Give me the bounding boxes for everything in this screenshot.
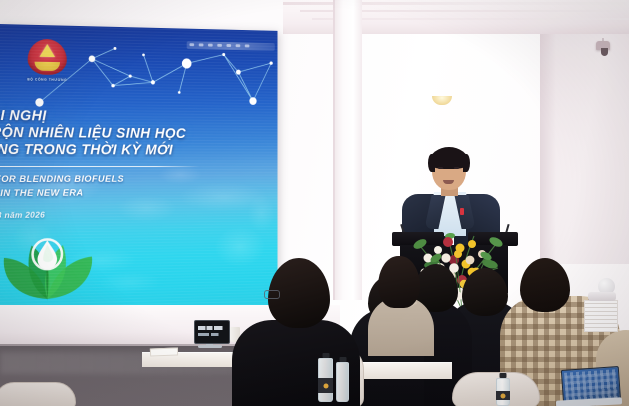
water-bottle-2 [336, 362, 349, 402]
projector-scanlines [0, 24, 277, 314]
presenter-monitor[interactable] [194, 320, 230, 344]
lamp-base [588, 292, 616, 301]
speaker-eye-right [454, 167, 459, 169]
security-camera-lens [601, 48, 608, 56]
speaker-hair-right [463, 154, 470, 172]
column-edge [333, 0, 335, 300]
monitor-content [198, 324, 226, 340]
attendee-glasses-icon [264, 290, 280, 299]
projection-screen: BỘ CÔNG THƯƠNG HỘI NGHỊ PHỐI TRỘN NHIÊN … [0, 24, 277, 314]
water-bottle-1 [318, 358, 333, 402]
water-bottle-3 [496, 378, 510, 406]
wall-recess-shadow [540, 34, 556, 264]
monitor-base [198, 345, 222, 348]
stacked-papers [584, 300, 618, 332]
paper-sheet [150, 348, 178, 357]
speaker-hair-left [428, 154, 435, 172]
wall-column [333, 0, 362, 300]
conference-photo: BỘ CÔNG THƯƠNG HỘI NGHỊ PHỐI TRỘN NHIÊN … [0, 0, 629, 406]
attendee-long-hair-head [378, 256, 420, 308]
speaker-eye-left [438, 167, 443, 169]
projection-screen-surface: BỘ CÔNG THƯƠNG HỘI NGHỊ PHỐI TRỘN NHIÊN … [0, 24, 277, 314]
chair-front-left [0, 382, 76, 406]
speaker-lapel-pin [460, 208, 464, 215]
